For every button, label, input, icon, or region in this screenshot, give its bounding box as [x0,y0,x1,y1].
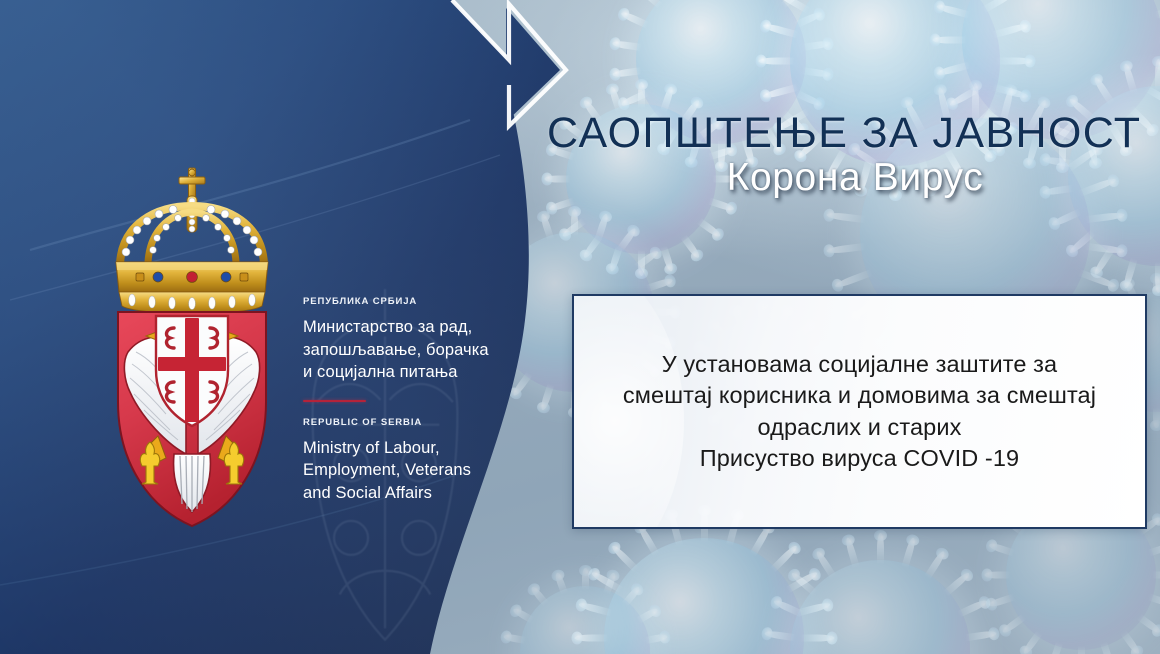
ministry-identity-block: РЕПУБЛИКА СРБИЈА Министарство за рад, за… [303,296,553,505]
page-subtitle: Корона Вирус [547,158,1147,197]
red-divider [303,400,366,402]
announcement-text: У установама социјалне заштите за смешта… [609,349,1110,474]
republic-label-en: REPUBLIC OF SERBIA [303,417,553,428]
serbian-coat-of-arms-icon [96,166,288,530]
page-title: САОПШТЕЊЕ ЗА ЈАВНОСТ [547,112,1147,155]
coronavirus-particle-icon [790,560,970,654]
poster-canvas: РЕПУБЛИКА СРБИЈА Министарство за рад, за… [0,0,1160,654]
coronavirus-particle-icon [604,538,804,654]
announcement-box: У установама социјалне заштите за смешта… [572,294,1147,529]
republic-label-sr: РЕПУБЛИКА СРБИЈА [303,296,553,307]
ministry-name-en: Ministry of Labour, Employment, Veterans… [303,437,553,505]
coronavirus-particle-icon [520,586,650,654]
ministry-name-sr: Министарство за рад, запошљавање, борачк… [303,316,553,384]
